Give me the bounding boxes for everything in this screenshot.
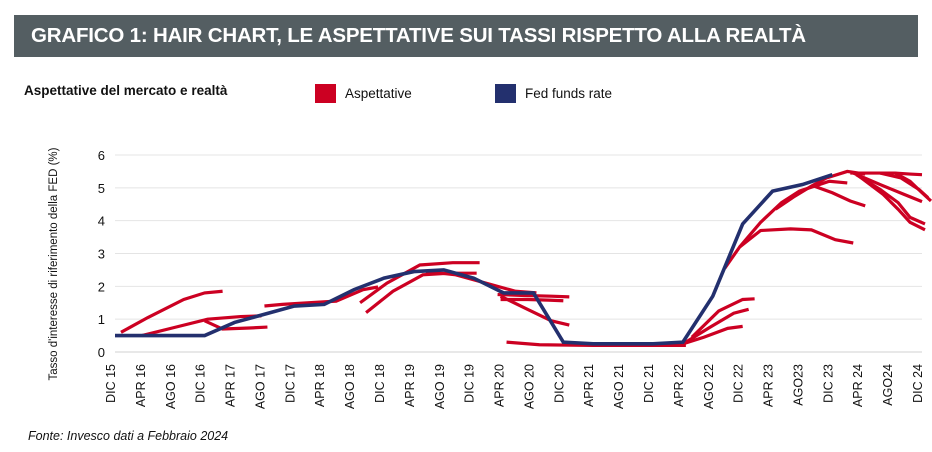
y-axis-tick-label: 1 — [98, 312, 105, 327]
y-axis-tick-label: 0 — [98, 345, 105, 360]
x-axis-tick-label: APR 21 — [582, 364, 596, 407]
chart-svg: 0123456 DIC 15APR 16AGO 16DIC 16APR 17AG… — [0, 0, 932, 452]
x-axis-tick-label: APR 24 — [851, 364, 865, 407]
x-axis-tick-label: DIC 19 — [463, 364, 477, 403]
expectation-hair-line — [814, 186, 865, 206]
x-axis-tick-label: DIC 24 — [911, 364, 925, 403]
x-axis-tick-label: AGO 22 — [702, 364, 716, 409]
x-axis-tick-label: APR 17 — [224, 364, 238, 407]
y-axis-tick-label: 3 — [98, 247, 105, 262]
x-axis-tick-label: AGO 21 — [612, 364, 626, 409]
x-axis-tick-label: DIC 21 — [642, 364, 656, 403]
expectation-hair-line — [725, 229, 854, 268]
y-axis-tick-label: 6 — [98, 148, 105, 163]
x-axis-tick-label: AGO 18 — [343, 364, 357, 409]
x-axis-tick-label: DIC 23 — [821, 364, 835, 403]
x-axis-tick-label: AGO23 — [791, 364, 805, 406]
expectation-hair-line — [121, 291, 223, 332]
y-axis-tick-label: 5 — [98, 181, 105, 196]
x-axis-tick-label: AGO 19 — [433, 364, 447, 409]
x-axis-tick-label: DIC 22 — [732, 364, 746, 403]
x-axis-tick-label: APR 20 — [493, 364, 507, 407]
x-axis-tick-label: AGO24 — [881, 364, 895, 406]
x-axis-tick-label: DIC 16 — [194, 364, 208, 403]
x-axis-tick-label: APR 23 — [762, 364, 776, 407]
chart-plot-area: 0123456 DIC 15APR 16AGO 16DIC 16APR 17AG… — [0, 0, 932, 452]
x-axis-tick-label: DIC 15 — [104, 364, 118, 403]
x-axis-tick-label: APR 19 — [403, 364, 417, 407]
x-axis-ticks: DIC 15APR 16AGO 16DIC 16APR 17AGO 17DIC … — [104, 364, 925, 409]
x-axis-tick-label: AGO 16 — [164, 364, 178, 409]
x-axis-tick-label: DIC 17 — [283, 364, 297, 403]
x-axis-tick-label: APR 22 — [672, 364, 686, 407]
y-axis-ticks: 0123456 — [98, 148, 105, 360]
y-axis-tick-label: 2 — [98, 279, 105, 294]
x-axis-tick-label: APR 16 — [134, 364, 148, 407]
x-axis-tick-label: DIC 20 — [552, 364, 566, 403]
chart-source-note: Fonte: Invesco dati a Febbraio 2024 — [28, 429, 228, 443]
x-axis-tick-label: APR 18 — [313, 364, 327, 407]
y-axis-tick-label: 4 — [98, 214, 105, 229]
expectation-hair-line — [360, 263, 480, 303]
x-axis-tick-label: DIC 18 — [373, 364, 387, 403]
x-axis-tick-label: AGO 20 — [522, 364, 536, 409]
x-axis-tick-label: AGO 17 — [253, 364, 267, 409]
